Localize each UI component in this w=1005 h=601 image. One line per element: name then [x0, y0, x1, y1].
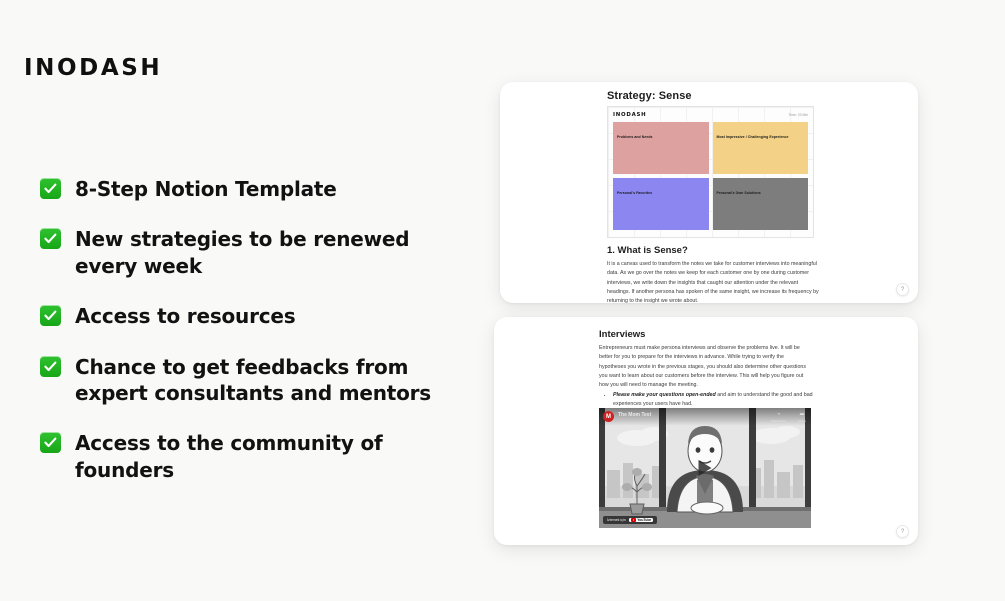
quadrant-label: Personal's Favorites: [617, 191, 652, 195]
watch-on-label: İzlemek için: [607, 518, 626, 522]
list-item: New strategies to be renewed every week: [40, 226, 470, 279]
feature-label: Chance to get feedbacks from expert cons…: [75, 354, 470, 407]
canvas-header: INODASH Time: 20 Min: [613, 112, 808, 118]
quadrant-personals-own-solutions[interactable]: Personal's Own Solutions: [713, 178, 809, 230]
brand-logo: INODASH: [24, 55, 162, 81]
quadrant-grid: Problems and Needs Most Impressive / Cha…: [613, 122, 808, 230]
share-label: Share: [798, 419, 806, 423]
check-box-icon: [40, 228, 61, 249]
video-actions: ◔ Watch later ➦ Share: [771, 411, 806, 423]
card-title: Interviews: [599, 329, 645, 340]
check-box-icon: [40, 432, 61, 453]
youtube-play-icon: [631, 518, 636, 522]
youtube-wordmark: YouTube: [637, 518, 651, 522]
feature-label: Access to the community of founders: [75, 430, 470, 483]
feature-label: New strategies to be renewed every week: [75, 226, 470, 279]
help-button[interactable]: ?: [896, 525, 909, 538]
help-button[interactable]: ?: [896, 283, 909, 296]
slide-root: INODASH 8-Step Notion Template New strat…: [0, 0, 1005, 601]
canvas-time-label: Time: 20 Min: [789, 113, 808, 117]
interviews-body: Entrepreneurs must make persona intervie…: [599, 344, 811, 390]
feature-label: 8-Step Notion Template: [75, 176, 337, 202]
list-item: Access to resources: [40, 303, 470, 329]
card-strategy-sense[interactable]: Strategy: Sense INODASH Time: 20 Min Pro…: [500, 82, 918, 303]
play-button-icon[interactable]: [699, 460, 712, 476]
watch-later-label: Watch later: [771, 419, 786, 423]
video-top-bar: M The Mom Test ◔ Watch later ➦ Share: [599, 408, 811, 426]
card-interviews[interactable]: Interviews Entrepreneurs must make perso…: [494, 317, 918, 545]
sense-text-block: 1. What is Sense? It is a canvas used to…: [607, 245, 821, 303]
quadrant-personals-favorites[interactable]: Personal's Favorites: [613, 178, 709, 230]
feature-label: Access to resources: [75, 303, 296, 329]
share-icon: ➦: [798, 412, 806, 418]
clock-icon: ◔: [771, 412, 786, 418]
share-button[interactable]: ➦ Share: [798, 412, 806, 423]
feature-list: 8-Step Notion Template New strategies to…: [40, 176, 470, 483]
check-box-icon: [40, 356, 61, 377]
quadrant-label: Most Impressive / Challenging Experience: [717, 135, 789, 139]
video-embed[interactable]: M The Mom Test ◔ Watch later ➦ Share İzl…: [599, 408, 811, 528]
list-item: Chance to get feedbacks from expert cons…: [40, 354, 470, 407]
quadrant-problems-and-needs[interactable]: Problems and Needs: [613, 122, 709, 174]
list-item: 8-Step Notion Template: [40, 176, 470, 202]
quadrant-label: Personal's Own Solutions: [717, 191, 761, 195]
card-title: Strategy: Sense: [607, 90, 692, 102]
check-box-icon: [40, 305, 61, 326]
watch-later-button[interactable]: ◔ Watch later: [771, 412, 786, 423]
video-title: The Mom Test: [618, 411, 651, 418]
list-item: Please make your questions open-ended an…: [613, 391, 825, 410]
sense-canvas: INODASH Time: 20 Min Problems and Needs …: [607, 106, 814, 238]
avatar: M: [603, 411, 614, 422]
list-item: Access to the community of founders: [40, 430, 470, 483]
quadrant-label: Problems and Needs: [617, 135, 653, 139]
watch-on-youtube-button[interactable]: İzlemek için YouTube: [603, 516, 657, 524]
quadrant-most-impressive[interactable]: Most Impressive / Challenging Experience: [713, 122, 809, 174]
canvas-brand-logo: INODASH: [613, 112, 646, 118]
youtube-logo: YouTube: [629, 518, 654, 522]
section-heading: 1. What is Sense?: [607, 245, 821, 256]
section-body: It is a canvas used to transform the not…: [607, 260, 821, 303]
bullet-emphasis: Please make your questions open-ended: [613, 392, 716, 398]
check-box-icon: [40, 178, 61, 199]
